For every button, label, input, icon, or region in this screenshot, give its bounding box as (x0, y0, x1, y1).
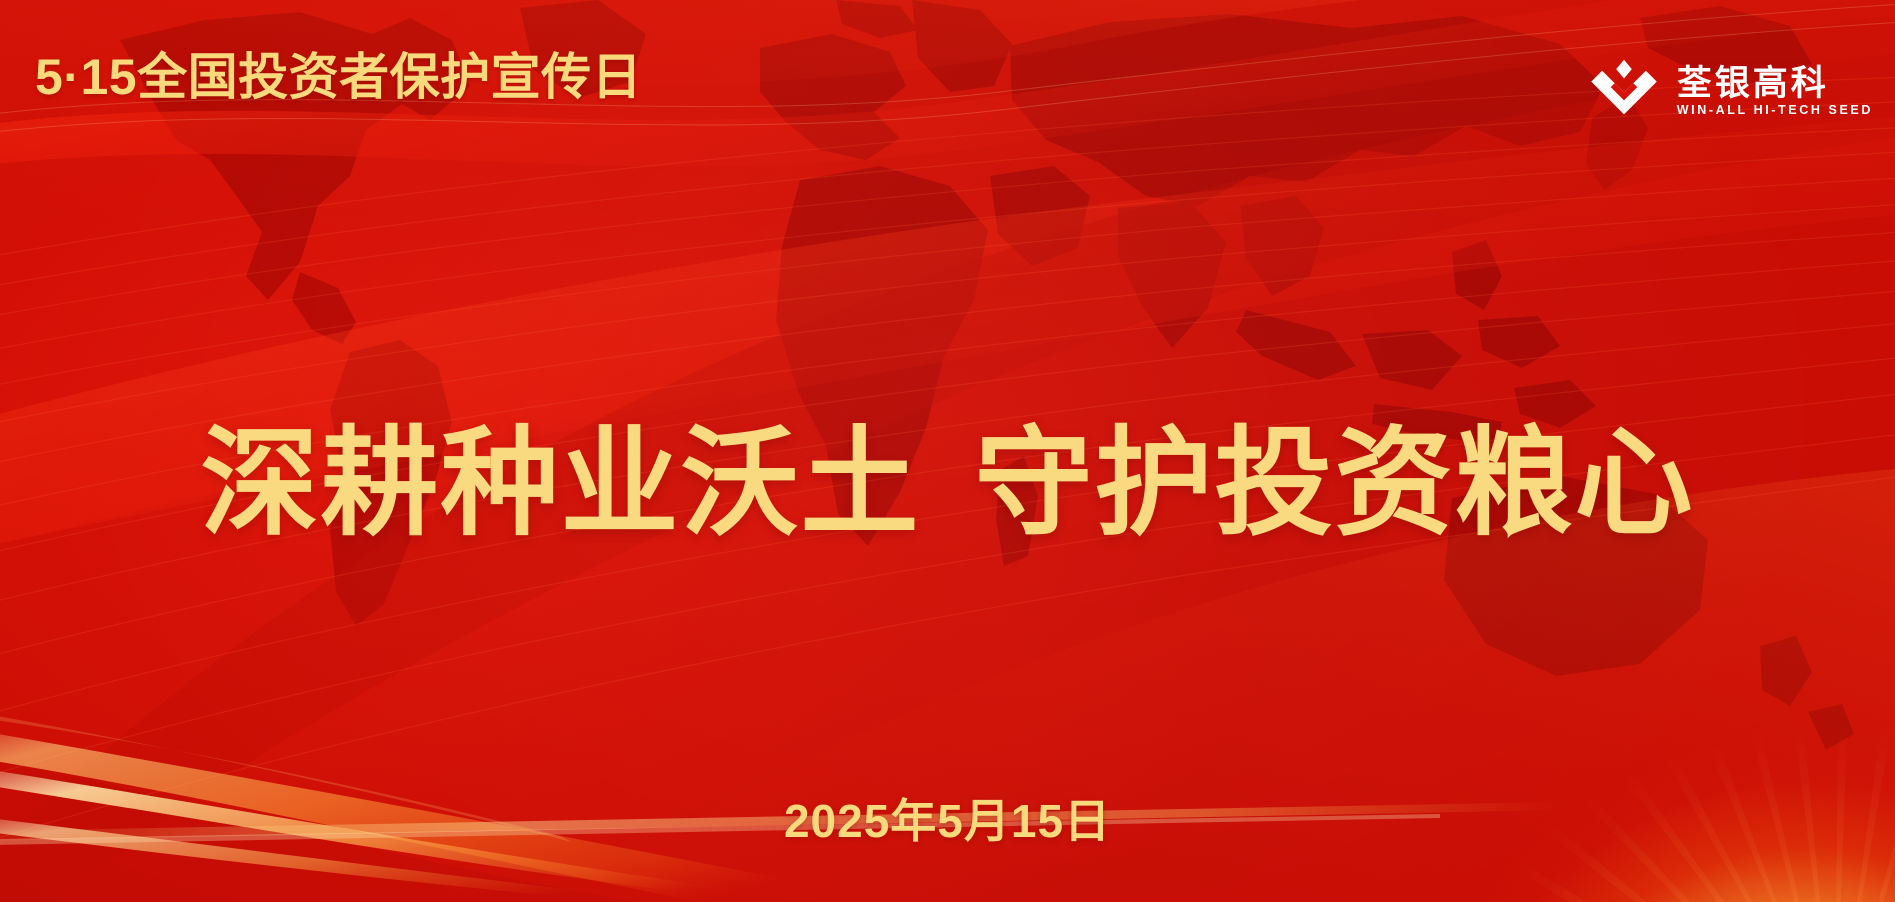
headline-phrase-2: 守护投资粮心 (975, 418, 1695, 550)
company-name-en: WIN-ALL HI-TECH SEED (1677, 104, 1873, 117)
company-logo: 荃银高科 WIN-ALL HI-TECH SEED (1585, 52, 1873, 130)
main-headline: 深耕种业沃土守护投资粮心 (0, 418, 1895, 550)
campaign-eyebrow-title: 5·15全国投资者保护宣传日 (35, 52, 642, 102)
win-all-chevron-logo-icon (1585, 52, 1663, 130)
promotional-banner: 5·15全国投资者保护宣传日 荃银高科 WIN-ALL HI-TECH SEED… (0, 0, 1895, 902)
company-name-cn: 荃银高科 (1677, 66, 1873, 101)
event-date: 2025年5月15日 (0, 798, 1895, 844)
company-logo-text: 荃银高科 WIN-ALL HI-TECH SEED (1677, 66, 1873, 117)
headline-phrase-1: 深耕种业沃土 (200, 418, 920, 550)
banner-content: 5·15全国投资者保护宣传日 荃银高科 WIN-ALL HI-TECH SEED… (0, 0, 1895, 902)
